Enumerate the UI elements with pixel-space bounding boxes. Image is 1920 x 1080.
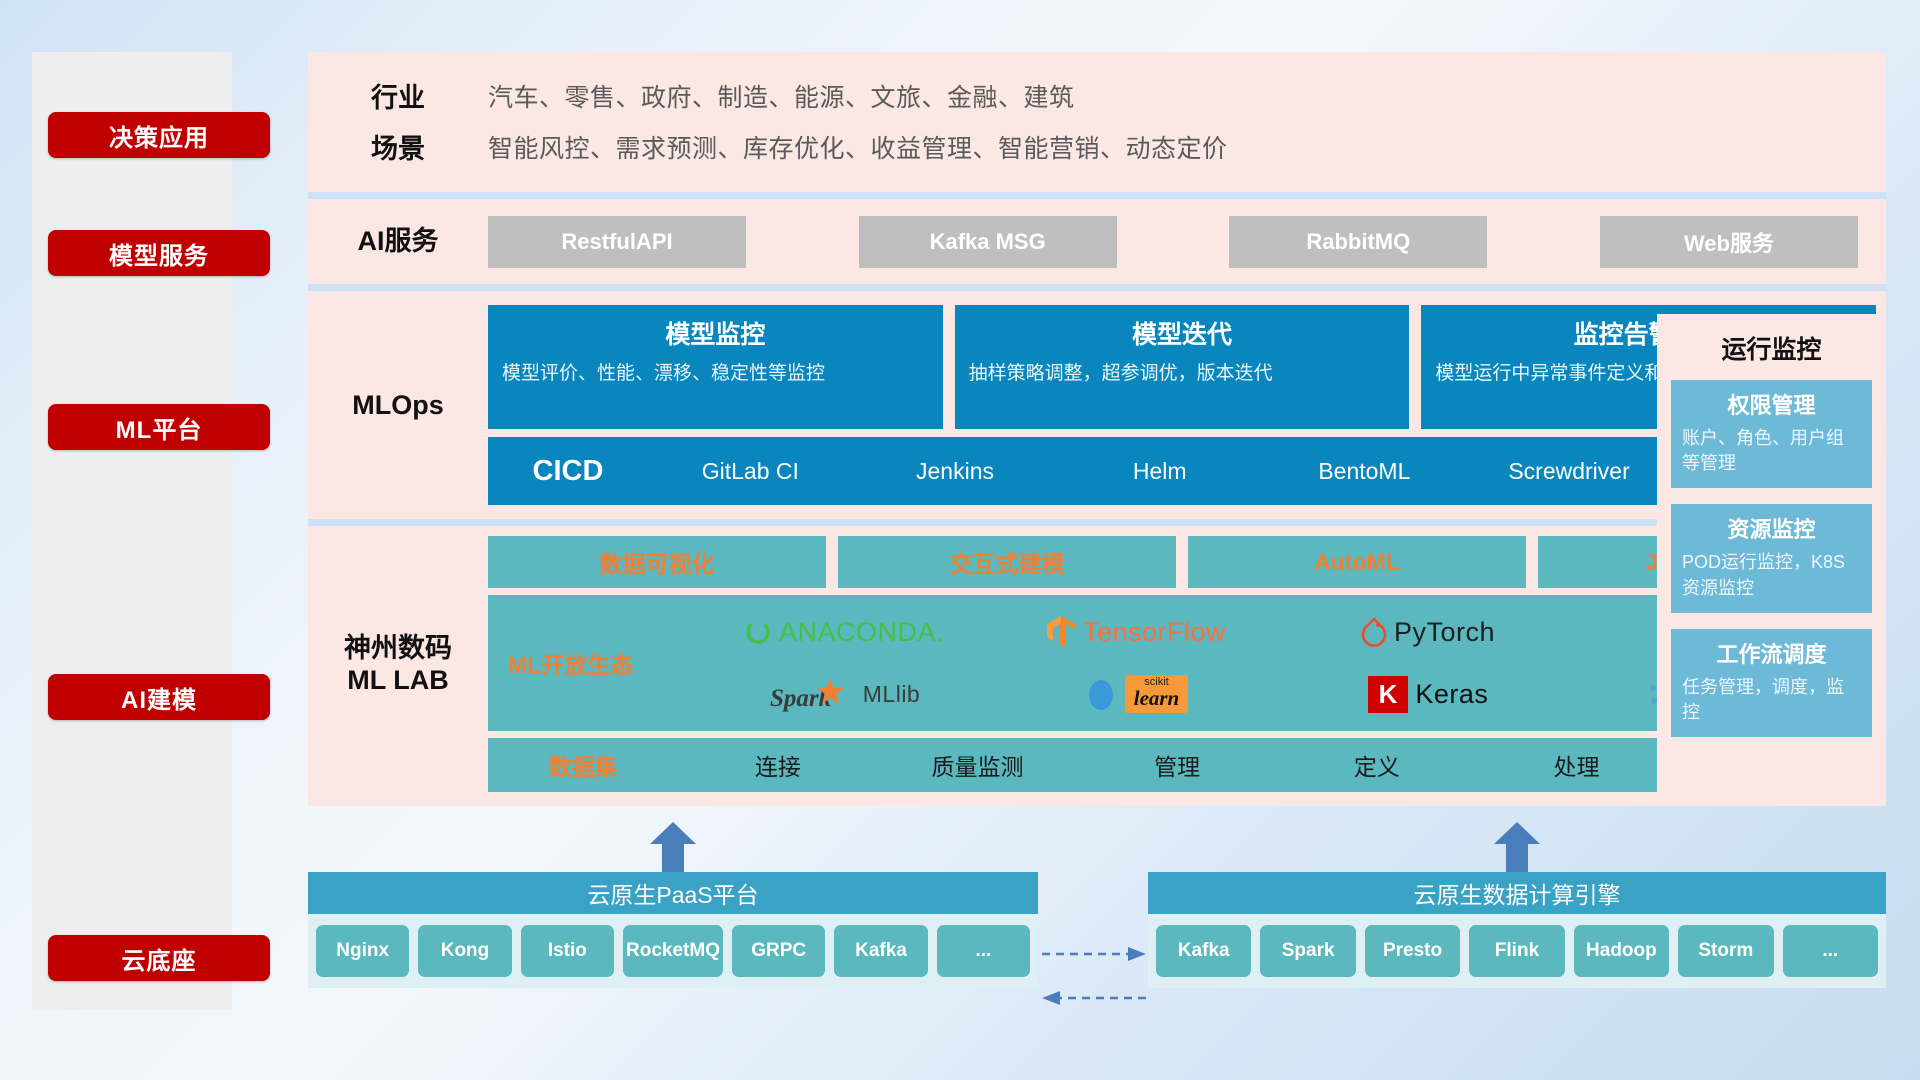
runtime-monitor-panel: 运行监控 权限管理 账户、角色、用户组等管理 资源监控 POD运行监控，K8S资… [1657,314,1886,803]
scikit-learn-wordmark-box: scikit learn [1125,675,1189,713]
mlops-card-title: 模型迭代 [969,315,1396,351]
mlops-card-model-iteration[interactable]: 模型迭代 抽样策略调整，超参调优，版本迭代 [955,305,1410,429]
scikit-blue-blob-icon [1084,677,1118,711]
stage-pill-label: 模型服务 [109,236,209,271]
service-box-kafka-msg[interactable]: Kafka MSG [859,216,1117,268]
runtime-card-title: 资源监控 [1682,512,1861,544]
spark-mllib-logo: Spark MLlib [698,663,990,725]
ml-lab-tab-data-visualization[interactable]: 数据可视化 [488,536,826,588]
cloud-paas-title: 云原生PaaS平台 [308,872,1038,914]
mlops-card-desc: 抽样策略调整，超参调优，版本迭代 [969,360,1396,388]
cicd-item-bentoml[interactable]: BentoML [1262,458,1467,484]
pytorch-wordmark: PyTorch [1394,617,1495,648]
cloud-paas-block: 云原生PaaS平台 Nginx Kong Istio RocketMQ GRPC… [308,872,1038,988]
keras-logo: K Keras [1282,663,1574,725]
architecture-diagram: 决策应用 模型服务 ML平台 AI建模 云底座 行业 汽车、零售、政府、制造、能… [0,0,1920,1080]
stage-rail [32,52,232,1010]
chip-rocketmq[interactable]: RocketMQ [623,925,723,977]
cloud-data-engine-block: 云原生数据计算引擎 Kafka Spark Presto Flink Hadoo… [1148,872,1886,988]
cicd-item-helm[interactable]: Helm [1057,458,1262,484]
ml-lab-label-line1: 神州数码 [344,632,452,664]
dataset-item-quality-monitoring[interactable]: 质量监测 [878,748,1078,782]
cloud-data-engine-chip-list: Kafka Spark Presto Flink Hadoop Storm ..… [1148,914,1886,988]
anaconda-mark-icon [744,618,772,646]
mllib-wordmark: MLlib [863,681,920,708]
runtime-card-title: 权限管理 [1682,388,1861,420]
stage-pill-label: ML平台 [116,410,203,445]
bidirectional-connector-icon [1042,940,1146,1012]
chip-spark[interactable]: Spark [1260,925,1355,977]
cloud-data-engine-title: 云原生数据计算引擎 [1148,872,1886,914]
ai-services-list: RestfulAPI Kafka MSG RabbitMQ Web服务 [488,216,1886,268]
spark-mark-icon: Spark [768,676,856,712]
ai-services-label: AI服务 [308,225,488,257]
pytorch-mark-icon [1361,617,1387,647]
runtime-card-title: 工作流调度 [1682,637,1861,669]
runtime-card-desc: POD运行监控，K8S资源监控 [1682,550,1861,600]
runtime-monitor-title: 运行监控 [1671,330,1872,366]
chip-kafka[interactable]: Kafka [834,925,927,977]
mlops-card-title: 模型监控 [502,315,929,351]
dataset-item-process[interactable]: 处理 [1477,748,1677,782]
dataset-item-connect[interactable]: 连接 [678,748,878,782]
chip-storm[interactable]: Storm [1678,925,1773,977]
keras-wordmark: Keras [1415,679,1488,710]
scikit-learn-logo: scikit learn [990,663,1282,725]
mlops-card-desc: 模型评价、性能、漂移、稳定性等监控 [502,360,929,388]
anaconda-logo: ANACONDA. [698,601,990,663]
industry-row: 行业 汽车、零售、政府、制造、能源、文旅、金融、建筑 [308,70,1886,121]
service-box-restfulapi[interactable]: RestfulAPI [488,216,746,268]
chip-grpc[interactable]: GRPC [732,925,825,977]
main-stack: 行业 汽车、零售、政府、制造、能源、文旅、金融、建筑 场景 智能风控、需求预测、… [308,52,1886,806]
stage-pill-decision-apps[interactable]: 决策应用 [48,112,270,158]
runtime-card-desc: 任务管理，调度，监控 [1682,675,1861,725]
chip-istio[interactable]: Istio [521,925,614,977]
stage-pill-cloud-base[interactable]: 云底座 [48,935,270,981]
cloud-paas-chip-list: Nginx Kong Istio RocketMQ GRPC Kafka ... [308,914,1038,988]
mlops-card-model-monitoring[interactable]: 模型监控 模型评价、性能、漂移、稳定性等监控 [488,305,943,429]
ml-lab-band: 神州数码 ML LAB 数据可视化 交互式建模 AutoML JupyterLa… [308,519,1886,806]
runtime-card-resource[interactable]: 资源监控 POD运行监控，K8S资源监控 [1671,504,1872,612]
cicd-title: CICD [488,455,648,488]
runtime-card-workflow[interactable]: 工作流调度 任务管理，调度，监控 [1671,629,1872,737]
industry-values: 汽车、零售、政府、制造、能源、文旅、金融、建筑 [488,78,1075,114]
dataset-title: 数据集 [488,748,678,782]
tensorflow-wordmark: TensorFlow [1083,617,1226,648]
pytorch-logo: PyTorch [1282,601,1574,663]
up-arrow-icon [1494,822,1540,872]
chip-nginx[interactable]: Nginx [316,925,409,977]
ai-services-band: AI服务 RestfulAPI Kafka MSG RabbitMQ Web服务 [308,192,1886,284]
dataset-item-manage[interactable]: 管理 [1077,748,1277,782]
stage-pill-label: 决策应用 [109,118,209,153]
stage-pill-ml-platform[interactable]: ML平台 [48,404,270,450]
cicd-item-jenkins[interactable]: Jenkins [853,458,1058,484]
mlops-band: MLOps 模型监控 模型评价、性能、漂移、稳定性等监控 模型迭代 抽样策略调整… [308,284,1886,519]
stage-pill-label: AI建模 [121,680,197,715]
stage-pill-ai-modeling[interactable]: AI建模 [48,674,270,720]
chip-presto[interactable]: Presto [1365,925,1460,977]
ml-lab-label-line2: ML LAB [344,664,452,696]
industry-label: 行业 [308,76,488,115]
decision-apps-band: 行业 汽车、零售、政府、制造、能源、文旅、金融、建筑 场景 智能风控、需求预测、… [308,52,1886,192]
anaconda-wordmark: ANACONDA. [779,617,944,648]
chip-more[interactable]: ... [937,925,1030,977]
chip-flink[interactable]: Flink [1469,925,1564,977]
up-arrow-icon [650,822,696,872]
chip-kong[interactable]: Kong [418,925,511,977]
ml-ecosystem-title: ML开放生态 [508,646,698,680]
chip-hadoop[interactable]: Hadoop [1574,925,1669,977]
service-box-web-service[interactable]: Web服务 [1600,216,1858,268]
scenario-label: 场景 [308,127,488,166]
chip-kafka[interactable]: Kafka [1156,925,1251,977]
stage-pill-label: 云底座 [122,941,197,976]
runtime-card-permission[interactable]: 权限管理 账户、角色、用户组等管理 [1671,380,1872,488]
runtime-card-desc: 账户、角色、用户组等管理 [1682,426,1861,476]
keras-mark-icon: K [1368,676,1409,713]
stage-pill-model-service[interactable]: 模型服务 [48,230,270,276]
chip-more[interactable]: ... [1783,925,1878,977]
tensorflow-logo: TensorFlow [990,601,1282,663]
mlops-label: MLOps [308,305,488,505]
ml-lab-tab-automl[interactable]: AutoML [1188,536,1526,588]
scenario-values: 智能风控、需求预测、库存优化、收益管理、智能营销、动态定价 [488,129,1228,165]
ml-lab-label: 神州数码 ML LAB [308,536,488,792]
dataset-item-define[interactable]: 定义 [1277,748,1477,782]
cicd-item-gitlab-ci[interactable]: GitLab CI [648,458,853,484]
tensorflow-mark-icon [1046,615,1076,649]
cicd-item-screwdriver[interactable]: Screwdriver [1467,458,1672,484]
scenario-row: 场景 智能风控、需求预测、库存优化、收益管理、智能营销、动态定价 [308,121,1886,172]
scikit-learn-wordmark: learn [1134,688,1180,709]
ml-lab-tab-interactive-modeling[interactable]: 交互式建模 [838,536,1176,588]
service-box-rabbitmq[interactable]: RabbitMQ [1229,216,1487,268]
